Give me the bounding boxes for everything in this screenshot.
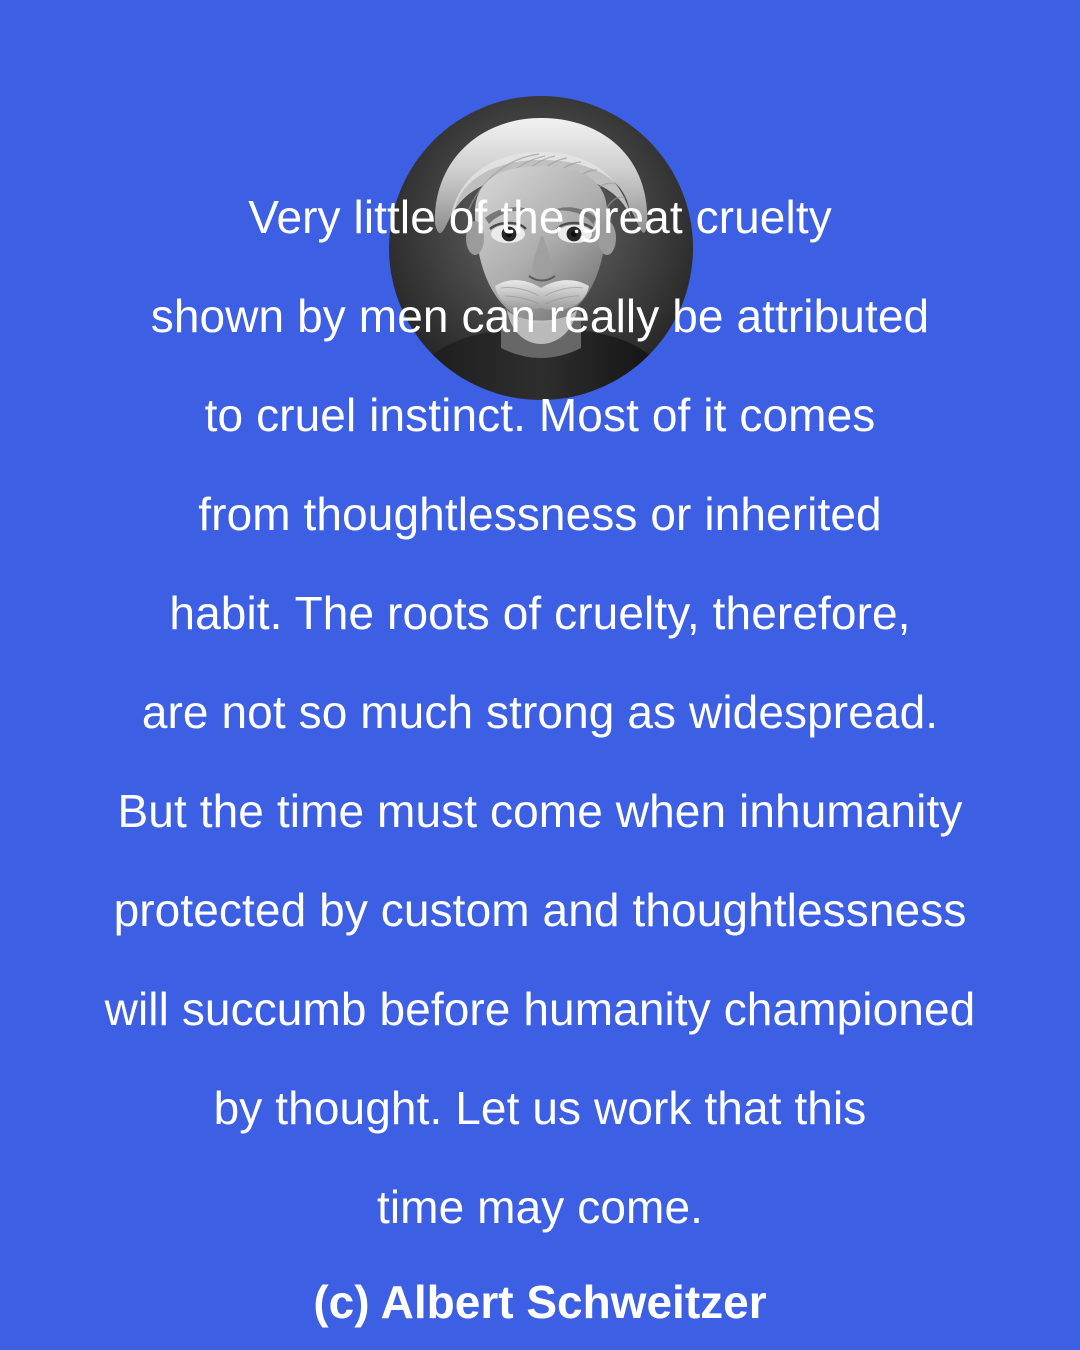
quote-line: shown by men can really be attributed xyxy=(0,267,1080,366)
quote-line: Very little of the great cruelty xyxy=(0,168,1080,267)
quote-attribution: (c) Albert Schweitzer xyxy=(0,1272,1080,1332)
quote-line: to cruel instinct. Most of it comes xyxy=(0,366,1080,465)
quote-line: by thought. Let us work that this xyxy=(0,1059,1080,1158)
quote-line: are not so much strong as widespread. xyxy=(0,663,1080,762)
quote-text-block: Very little of the great cruelty shown b… xyxy=(0,0,1080,1260)
quote-line: will succumb before humanity championed xyxy=(0,960,1080,1059)
quote-line: protected by custom and thoughtlessness xyxy=(0,861,1080,960)
quote-line: time may come. xyxy=(0,1158,1080,1257)
quote-card: Very little of the great cruelty shown b… xyxy=(0,0,1080,1350)
quote-line: But the time must come when inhumanity xyxy=(0,762,1080,861)
quote-line: habit. The roots of cruelty, therefore, xyxy=(0,564,1080,663)
quote-line: from thoughtlessness or inherited xyxy=(0,465,1080,564)
